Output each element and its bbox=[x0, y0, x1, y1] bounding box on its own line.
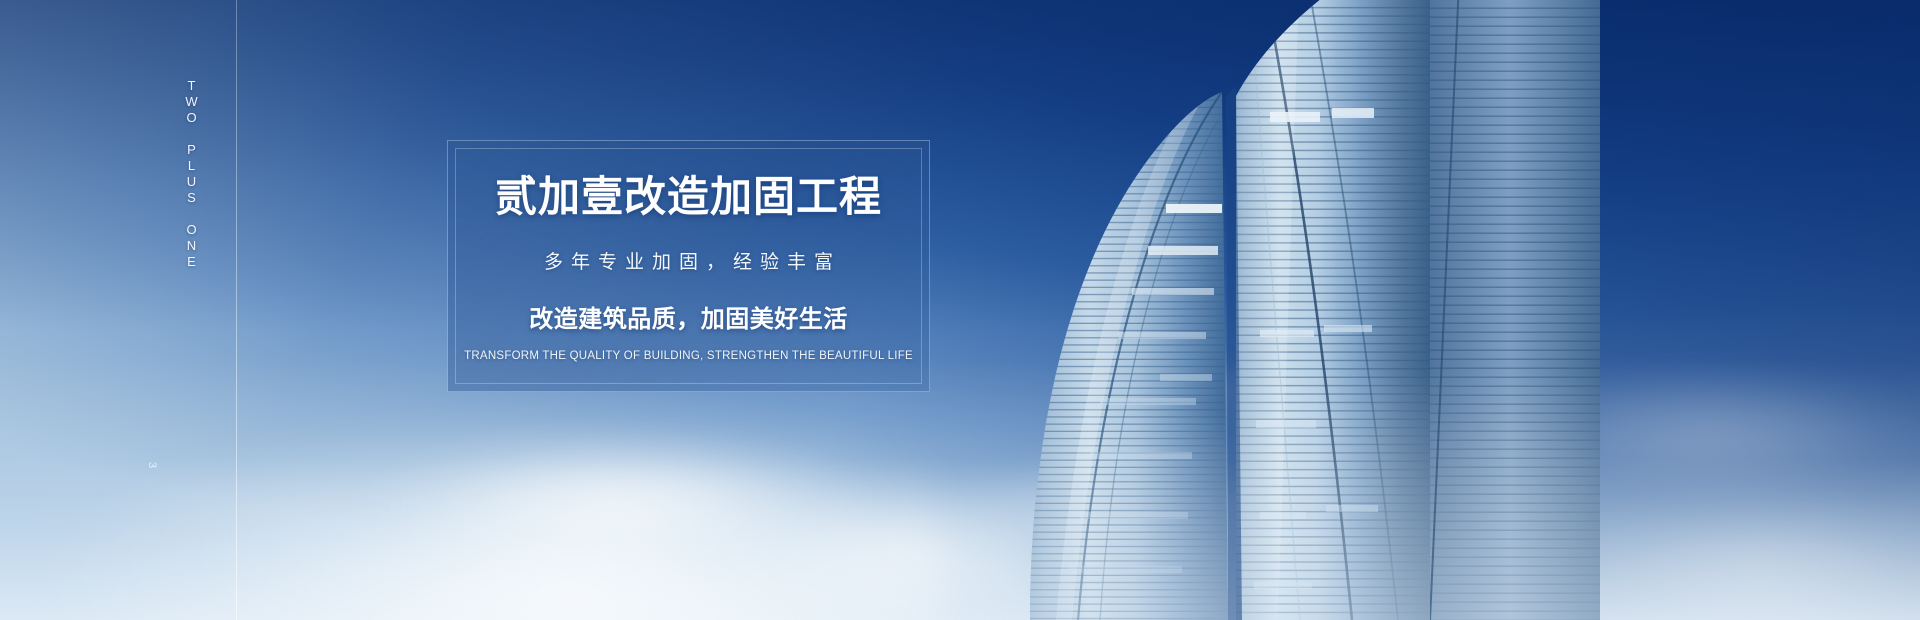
vertical-brand-text: TWO PLUS ONE bbox=[178, 78, 206, 270]
skyscraper-scene bbox=[960, 0, 1920, 620]
tower-left bbox=[1010, 60, 1250, 620]
tower-right bbox=[1220, 0, 1450, 620]
hero-banner: TWO PLUS ONE 3 贰加壹改造加固工程 多年专业加固，经验丰富 改造建… bbox=[0, 0, 1920, 620]
hero-text-panel: 贰加壹改造加固工程 多年专业加固，经验丰富 改造建筑品质，加固美好生活 TRAN… bbox=[447, 140, 930, 392]
vertical-divider bbox=[236, 0, 237, 620]
panel-content: 贰加壹改造加固工程 多年专业加固，经验丰富 改造建筑品质，加固美好生活 TRAN… bbox=[448, 141, 929, 391]
tower-far bbox=[1420, 0, 1620, 620]
vertical-brand-mark: 3 bbox=[146, 462, 158, 469]
hero-subheadline: 多年专业加固，经验丰富 bbox=[536, 247, 841, 274]
cloud-bank bbox=[0, 380, 940, 620]
hero-tagline: 改造建筑品质，加固美好生活 bbox=[529, 299, 848, 334]
hero-headline: 贰加壹改造加固工程 bbox=[495, 176, 882, 218]
hero-english-tagline: TRANSFORM THE QUALITY OF BUILDING, STREN… bbox=[464, 350, 913, 362]
